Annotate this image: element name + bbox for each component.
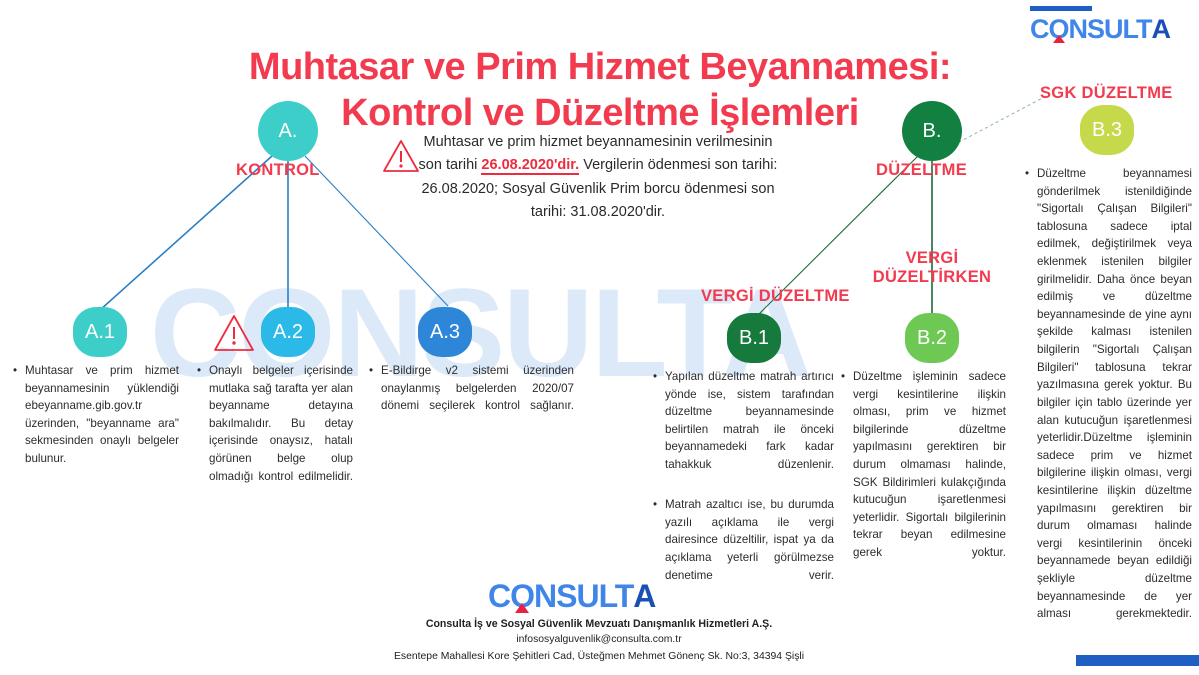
logo-suffix: A	[633, 578, 655, 615]
logo-suffix: A	[1152, 14, 1171, 45]
node-a1[interactable]: A.1	[73, 307, 127, 357]
label-duzeltme: DÜZELTME	[876, 161, 967, 180]
bullet-icon: •	[369, 362, 373, 380]
column-b1-list: •Yapılan düzeltme matrah artırıcı yönde …	[652, 368, 834, 602]
label-vergi-duzeltirken: VERGİ DÜZELTİRKEN	[862, 249, 1002, 288]
top-accent-rule	[1030, 6, 1092, 11]
list-item: •Onaylı belgeler içerisinde mutlaka sağ …	[196, 362, 353, 503]
list-item: •Muhtasar ve prim hizmet beyannamesinin …	[12, 362, 179, 485]
footer-address: Esentepe Mahallesi Kore Şehitleri Cad, Ü…	[299, 649, 899, 665]
column-b2: •Düzeltme işleminin sadece vergi kesinti…	[840, 368, 1006, 584]
label-vergi-duzeltme: VERGİ DÜZELTME	[701, 287, 850, 306]
list-item-text: Yapılan düzeltme matrah artırıcı yönde i…	[665, 370, 834, 471]
list-item-text: Düzeltme beyannamesi gönderilmek istenil…	[1037, 167, 1192, 620]
node-b3[interactable]: B.3	[1080, 105, 1134, 155]
logo-bottom: C O NSULT A	[488, 578, 655, 615]
footer-email: infososyalguvenlik@consulta.com.tr	[299, 632, 899, 648]
node-b1[interactable]: B.1	[727, 313, 781, 363]
bullet-icon: •	[653, 368, 657, 386]
logo-triangle-icon	[515, 603, 529, 613]
logo-prefix: C	[1030, 14, 1049, 45]
node-b2[interactable]: B.2	[905, 313, 959, 363]
infographic-canvas: CONSULTA C O NSULT A Muhtasar ve Prim Hi…	[0, 0, 1199, 675]
node-b[interactable]: B.	[902, 101, 962, 161]
logo-o-mark: O	[1049, 14, 1069, 45]
label-vergi-duzeltirken-line2: DÜZELTİRKEN	[862, 268, 1002, 287]
column-b3-list: •Düzeltme beyannamesi gönderilmek isteni…	[1024, 165, 1192, 640]
note-highlight-date: 26.08.2020'dir.	[481, 157, 579, 175]
bullet-icon: •	[841, 368, 845, 386]
column-a2-list: •Onaylı belgeler içerisinde mutlaka sağ …	[196, 362, 353, 503]
logo-o-mark: O	[510, 578, 534, 615]
bullet-icon: •	[13, 362, 17, 380]
bottom-accent-rule	[1076, 655, 1199, 666]
column-b1: •Yapılan düzeltme matrah artırıcı yönde …	[652, 368, 834, 607]
node-a3[interactable]: A.3	[418, 307, 472, 357]
list-item: •Matrah azaltıcı ise, bu durumda yazılı …	[652, 496, 834, 602]
column-b2-list: •Düzeltme işleminin sadece vergi kesinti…	[840, 368, 1006, 579]
column-a1: •Muhtasar ve prim hizmet beyannamesinin …	[12, 362, 179, 490]
list-item-text: Matrah azaltıcı ise, bu durumda yazılı a…	[665, 498, 834, 581]
column-a2: •Onaylı belgeler içerisinde mutlaka sağ …	[196, 362, 353, 508]
bullet-icon: •	[197, 362, 201, 380]
label-sgk-duzeltme: SGK DÜZELTME	[1040, 84, 1173, 103]
list-item-text: E-Bildirge v2 sistemi üzerinden onaylanm…	[381, 364, 574, 412]
logo-mid: NSULT	[534, 578, 633, 615]
title-line-1: Muhtasar ve Prim Hizmet Beyannamesi:	[200, 44, 1000, 90]
label-vergi-duzeltirken-line1: VERGİ	[862, 249, 1002, 268]
logo-triangle-icon	[1053, 35, 1065, 43]
logo-top: C O NSULT A	[1030, 14, 1170, 45]
column-a3: •E-Bildirge v2 sistemi üzerinden onaylan…	[368, 362, 574, 437]
page-title: Muhtasar ve Prim Hizmet Beyannamesi: Kon…	[200, 44, 1000, 137]
list-item: •E-Bildirge v2 sistemi üzerinden onaylan…	[368, 362, 574, 432]
warning-triangle-icon	[381, 138, 421, 174]
logo-mid: NSULT	[1069, 14, 1152, 45]
bullet-icon: •	[1025, 165, 1029, 183]
list-item: •Düzeltme işleminin sadece vergi kesinti…	[840, 368, 1006, 579]
list-item-text: Onaylı belgeler içerisinde mutlaka sağ t…	[209, 364, 353, 483]
column-a3-list: •E-Bildirge v2 sistemi üzerinden onaylan…	[368, 362, 574, 432]
warning-triangle-icon-a2	[212, 312, 256, 354]
node-a2[interactable]: A.2	[261, 307, 315, 357]
list-item-text: Muhtasar ve prim hizmet beyannamesinin y…	[25, 364, 179, 465]
footer: Consulta İş ve Sosyal Güvenlik Mevzuatı …	[299, 616, 899, 665]
footer-company: Consulta İş ve Sosyal Güvenlik Mevzuatı …	[299, 616, 899, 632]
bullet-icon: •	[653, 496, 657, 514]
list-item-text: Düzeltme işleminin sadece vergi kesintil…	[853, 370, 1006, 559]
title-line-2: Kontrol ve Düzeltme İşlemleri	[200, 90, 1000, 136]
column-b3: •Düzeltme beyannamesi gönderilmek isteni…	[1024, 165, 1192, 645]
column-a1-list: •Muhtasar ve prim hizmet beyannamesinin …	[12, 362, 179, 485]
deadline-note: Muhtasar ve prim hizmet beyannamesinin v…	[418, 131, 778, 225]
logo-prefix: C	[488, 578, 510, 615]
node-a[interactable]: A.	[258, 101, 318, 161]
list-item: •Düzeltme beyannamesi gönderilmek isteni…	[1024, 165, 1192, 640]
label-kontrol: KONTROL	[236, 161, 320, 180]
list-item: •Yapılan düzeltme matrah artırıcı yönde …	[652, 368, 834, 491]
